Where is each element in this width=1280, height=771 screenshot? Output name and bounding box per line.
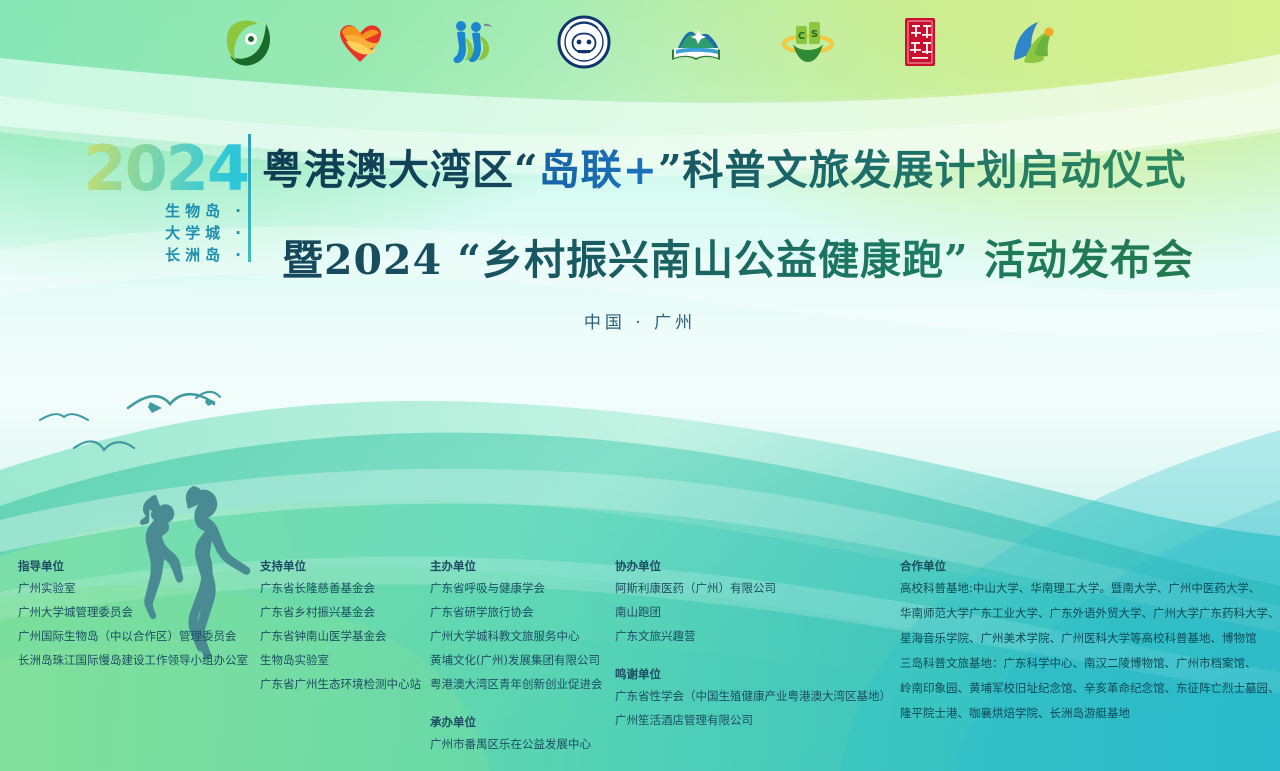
main-title-part2: 科普文旅发展计划启动仪式	[683, 146, 1187, 194]
credits-column-partners: 合作单位 高校科普基地:中山大学、华南理工大学。暨南大学、广州中医药大学、 华南…	[900, 560, 1280, 732]
sponsor-logo-strip: C S	[0, 14, 1280, 70]
location-text: 中国 · 广州	[0, 308, 1280, 333]
credits-heading: 合作单位	[900, 560, 1280, 573]
credits-item: 广东省长隆慈善基金会	[260, 582, 421, 595]
green-leaf-circle-logo	[220, 14, 276, 70]
credits-item: 广东省研学旅行协会	[430, 606, 603, 619]
green-globe-cs-logo: C S	[780, 14, 836, 70]
credits-item: 黄埔文化(广州)发展集团有限公司	[430, 654, 603, 667]
credits-heading: 支持单位	[260, 560, 421, 573]
dark-blue-seal-logo	[556, 14, 612, 70]
sub-title: 暨2024 “乡村振兴南山公益健康跑” 活动发布会	[282, 226, 1194, 286]
mountain-book-logo	[668, 14, 724, 70]
credits-item: 华南师范大学广东工业大学、广东外语外贸大学、广州大学广东药科大学、	[900, 607, 1280, 620]
credits-item: 粤港澳大湾区青年创新创业促进会	[430, 678, 603, 691]
year-text: 2024	[78, 138, 248, 200]
quote-close: ”	[658, 146, 683, 194]
credits-column-guidance: 指导单位 广州实验室 广州大学城管理委员会 广州国际生物岛（中以合作区）管理委员…	[18, 560, 248, 678]
credits-item: 广东省钟南山医学基金会	[260, 630, 421, 643]
main-title: 粤港澳大湾区“岛联+”科普文旅发展计划启动仪式	[262, 136, 1187, 196]
credits-item: 广州市番禺区乐在公益发展中心	[430, 738, 603, 751]
blue-green-bird-logo	[1004, 14, 1060, 70]
credits-item: 隆平院士港、咖襄烘焙学院、长洲岛游艇基地	[900, 707, 1280, 720]
credits-item: 星海音乐学院、广州美术学院、广州医科大学等高校科普基地、博物馆	[900, 632, 1280, 645]
credits-item: 岭南印象园、黄埔军校旧址纪念馆、辛亥革命纪念馆、东征阵亡烈士墓园、	[900, 682, 1280, 695]
svg-text:C: C	[798, 31, 805, 42]
credits-heading: 承办单位	[430, 716, 603, 729]
credits-heading: 鸣谢单位	[615, 668, 891, 681]
credits-column-host: 主办单位 广东省呼吸与健康学会 广东省研学旅行协会 广州大学城科教文旅服务中心 …	[430, 560, 603, 762]
credits-heading: 指导单位	[18, 560, 248, 573]
title-divider	[248, 134, 251, 262]
credits-heading: 协办单位	[615, 560, 891, 573]
year-logo: 2024 生物岛 · 大学城 · 长洲岛 ·	[78, 138, 248, 266]
credits-item: 广州国际生物岛（中以合作区）管理委员会	[18, 630, 248, 643]
svg-text:S: S	[811, 29, 818, 40]
main-title-part1: 粤港澳大湾区	[262, 146, 514, 194]
credits-footer: 指导单位 广州实验室 广州大学城管理委员会 广州国际生物岛（中以合作区）管理委员…	[0, 560, 1280, 771]
credits-item: 广东省呼吸与健康学会	[430, 582, 603, 595]
credits-column-coorganizer: 协办单位 阿斯利康医药（广州）有限公司 南山跑团 广东文旅兴趣营 鸣谢单位 广东…	[615, 560, 891, 738]
credits-item: 长洲岛珠江国际慢岛建设工作领导小组办公室	[18, 654, 248, 667]
credits-item: 广州大学城科教文旅服务中心	[430, 630, 603, 643]
blue-green-figures-logo	[444, 14, 500, 70]
year-subtitle-2: 大学城 ·	[78, 222, 248, 244]
quote-open: “	[514, 146, 539, 194]
credits-item: 阿斯利康医药（广州）有限公司	[615, 582, 891, 595]
spacer	[615, 654, 891, 668]
credits-item: 广东省乡村振兴基金会	[260, 606, 421, 619]
credits-item: 广州笙活酒店管理有限公司	[615, 714, 891, 727]
credits-column-support: 支持单位 广东省长隆慈善基金会 广东省乡村振兴基金会 广东省钟南山医学基金会 生…	[260, 560, 421, 702]
credits-item: 生物岛实验室	[260, 654, 421, 667]
credits-item: 三岛科普文旅基地：广东科学中心、南汉二陵博物馆、广州市档案馆、	[900, 657, 1280, 670]
credits-item: 广东省广州生态环境检测中心站	[260, 678, 421, 691]
credits-item: 南山跑团	[615, 606, 891, 619]
spacer	[430, 702, 603, 716]
credits-heading: 主办单位	[430, 560, 603, 573]
credits-item: 广州大学城管理委员会	[18, 606, 248, 619]
main-title-highlight: 岛联+	[539, 146, 658, 194]
red-stamp-logo	[892, 14, 948, 70]
year-subtitle-3: 长洲岛 ·	[78, 244, 248, 266]
orange-heart-wing-logo	[332, 14, 388, 70]
credits-item: 广东文旅兴趣营	[615, 630, 891, 643]
poster-canvas: C S	[0, 0, 1280, 771]
credits-item: 高校科普基地:中山大学、华南理工大学。暨南大学、广州中医药大学、	[900, 582, 1280, 595]
credits-item: 广州实验室	[18, 582, 248, 595]
credits-item: 广东省性学会（中国生殖健康产业粤港澳大湾区基地）	[615, 690, 891, 703]
